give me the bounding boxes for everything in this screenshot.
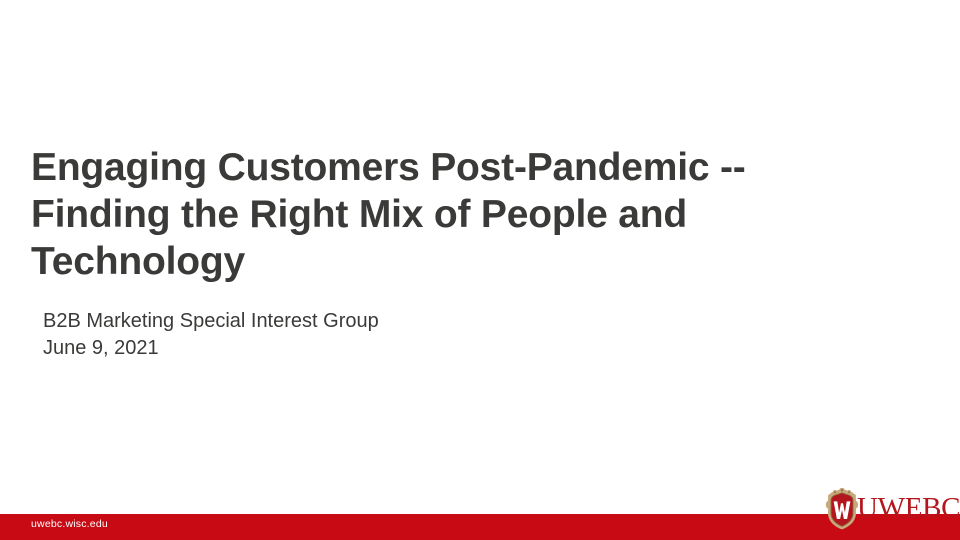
subtitle-block: B2B Marketing Special Interest Group Jun… [43, 308, 743, 362]
uwebc-wordmark: UWEBC [857, 494, 960, 523]
footer-url-text: uwebc.wisc.edu [31, 518, 108, 530]
title-block: Engaging Customers Post-Pandemic -- Find… [31, 144, 911, 285]
uw-crest-icon [824, 488, 860, 530]
footer-bar [0, 514, 960, 540]
title-slide: Engaging Customers Post-Pandemic -- Find… [0, 0, 960, 540]
subtitle-group: B2B Marketing Special Interest Group [43, 308, 743, 335]
subtitle-date: June 9, 2021 [43, 335, 743, 362]
page-title: Engaging Customers Post-Pandemic -- Find… [31, 144, 911, 285]
uwebc-logo: UWEBC [824, 486, 944, 532]
